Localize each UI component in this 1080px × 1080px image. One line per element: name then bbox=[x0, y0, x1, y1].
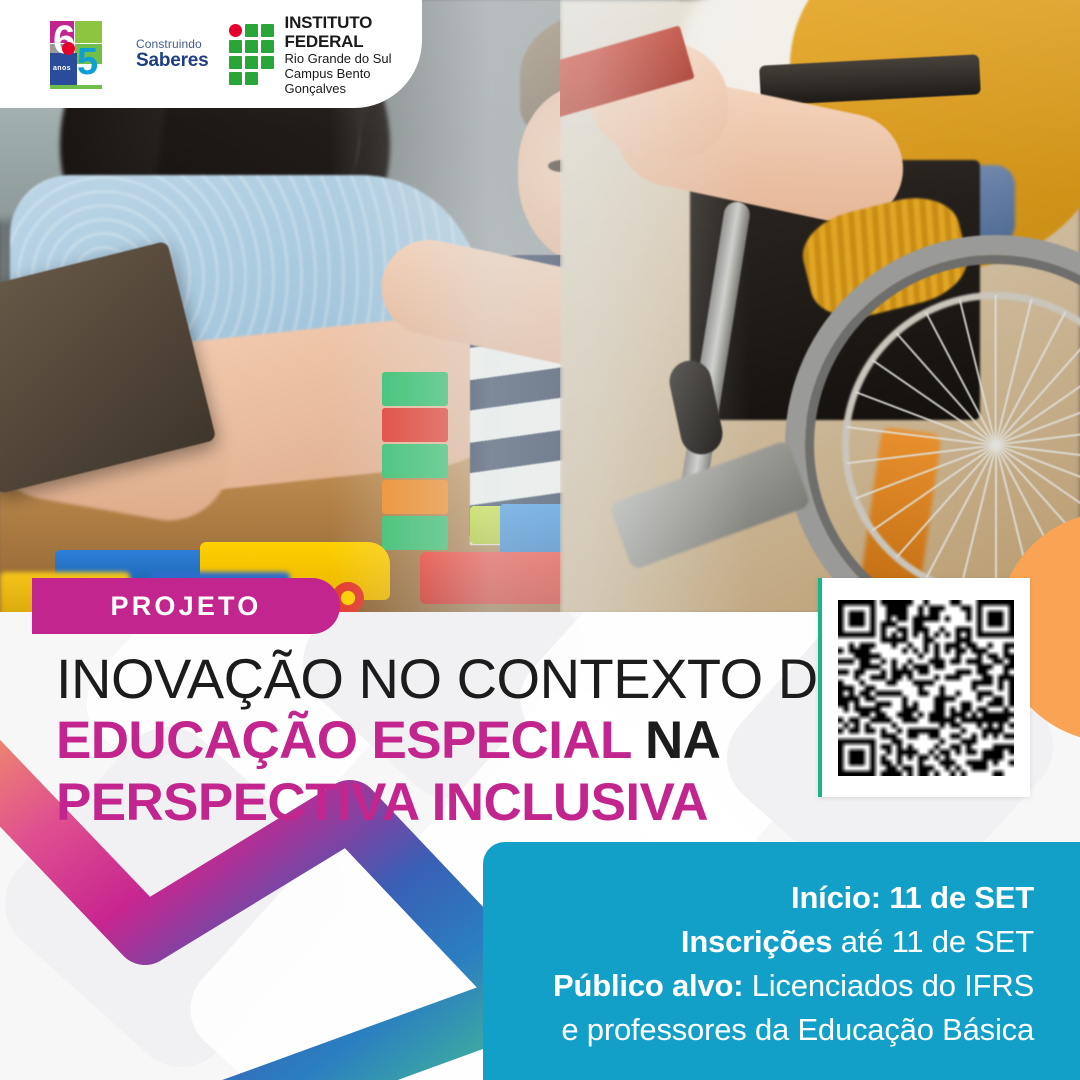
anniversary-five: 5 bbox=[77, 43, 98, 81]
info-audience-line: Público alvo: Licenciados do IFRS bbox=[483, 964, 1034, 1008]
construindo-saberes-wordmark: Construindo Saberes bbox=[136, 38, 209, 71]
ifrs-title: INSTITUTO FEDERAL bbox=[285, 13, 422, 51]
poster-title: INOVAÇÃO NO CONTEXTO DA EDUCAÇÃO ESPECIA… bbox=[56, 648, 816, 834]
title-line-1: INOVAÇÃO NO CONTEXTO DA bbox=[56, 648, 816, 710]
info-registration-value: até 11 de SET bbox=[841, 924, 1034, 959]
title-line-3: PERSPECTIVA INCLUSIVA bbox=[56, 772, 816, 834]
info-start-label: Início: bbox=[791, 880, 881, 915]
info-registration-label: Inscrições bbox=[681, 924, 832, 959]
construindo-saberes-logo: 6 5 anos bbox=[50, 21, 142, 87]
title-line-2: EDUCAÇÃO ESPECIAL NA bbox=[56, 710, 816, 772]
info-start-line: Início: 11 de SET bbox=[483, 876, 1034, 920]
title-line-2-suffix: NA bbox=[645, 711, 720, 770]
construindo-saberes-mark-icon: 6 5 anos bbox=[50, 21, 102, 85]
title-line-2-highlight: EDUCAÇÃO ESPECIAL bbox=[56, 711, 631, 770]
ifrs-state: Rio Grande do Sul bbox=[285, 51, 422, 66]
ifrs-wordmark: INSTITUTO FEDERAL Rio Grande do Sul Camp… bbox=[285, 13, 422, 96]
instituto-federal-logo: INSTITUTO FEDERAL Rio Grande do Sul Camp… bbox=[229, 13, 422, 96]
header-logo-bar: 6 5 anos Construindo Saberes INSTITUTO F… bbox=[0, 0, 422, 108]
info-registration-line: Inscrições até 11 de SET bbox=[483, 920, 1034, 964]
logo-underbar bbox=[50, 85, 102, 89]
ifrs-campus: Campus Bento Gonçalves bbox=[285, 66, 422, 96]
lego-tower bbox=[382, 372, 448, 552]
qr-code-image[interactable] bbox=[838, 600, 1014, 776]
info-audience-line-2: e professores da Educação Básica bbox=[483, 1008, 1034, 1052]
anniversary-caption: anos bbox=[53, 65, 71, 73]
info-start-value: 11 de SET bbox=[889, 880, 1034, 915]
ifrs-grid-icon bbox=[229, 24, 274, 85]
projeto-label: PROJETO bbox=[111, 592, 262, 620]
event-info-panel: Início: 11 de SET Inscrições até 11 de S… bbox=[483, 842, 1080, 1080]
construindo-label: Construindo bbox=[136, 38, 209, 51]
poster-root: 6 5 anos Construindo Saberes INSTITUTO F… bbox=[0, 0, 1080, 1080]
info-audience-value: Licenciados do IFRS bbox=[752, 968, 1034, 1003]
qr-code-card[interactable] bbox=[818, 578, 1030, 797]
projeto-badge: PROJETO bbox=[32, 578, 340, 634]
info-audience-label: Público alvo: bbox=[553, 968, 743, 1003]
red-dot-icon bbox=[62, 42, 75, 55]
saberes-label: Saberes bbox=[136, 51, 209, 71]
photo-wheelchair-scene bbox=[560, 0, 1080, 614]
